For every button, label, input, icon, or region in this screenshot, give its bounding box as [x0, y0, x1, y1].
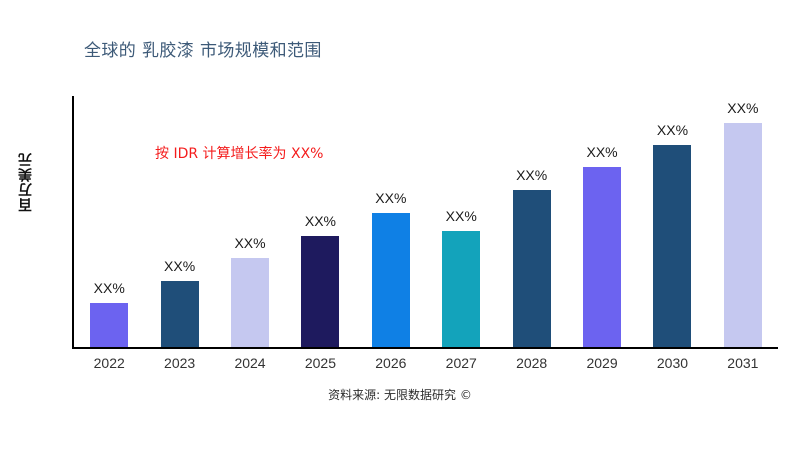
- x-axis-line: [72, 347, 778, 349]
- bar-2024[interactable]: XX%: [231, 258, 269, 347]
- x-tick-2024: 2024: [215, 355, 285, 371]
- x-tick-2029: 2029: [567, 355, 637, 371]
- bar-2025[interactable]: XX%: [301, 236, 339, 347]
- bar-2022[interactable]: XX%: [90, 303, 128, 347]
- bar-2029[interactable]: XX%: [583, 167, 621, 347]
- x-tick-2031: 2031: [708, 355, 778, 371]
- bar-value-label: XX%: [586, 144, 617, 160]
- chart-canvas: 全球的 乳胶漆 市场规模和范围 百万美元 按 IDR 计算增长率为 XX% XX…: [0, 0, 800, 450]
- plot-area: XX% XX% XX% XX% XX%: [72, 96, 778, 349]
- bar-slot: XX%: [426, 96, 496, 347]
- bar-value-label: XX%: [305, 213, 336, 229]
- x-axis-tick-labels: 2022 2023 2024 2025 2026 2027 2028 2029 …: [74, 355, 778, 371]
- bar-slot: XX%: [74, 96, 144, 347]
- bar-value-label: XX%: [446, 208, 477, 224]
- bar-series: XX% XX% XX% XX% XX%: [74, 96, 778, 347]
- bar-2026[interactable]: XX%: [372, 213, 410, 347]
- bar-value-label: XX%: [94, 280, 125, 296]
- bar-slot: XX%: [215, 96, 285, 347]
- bar-2030[interactable]: XX%: [653, 145, 691, 347]
- bar-2031[interactable]: XX%: [724, 123, 762, 347]
- page-title: 全球的 乳胶漆 市场规模和范围: [84, 36, 322, 61]
- bar-value-label: XX%: [234, 235, 265, 251]
- bar-2027[interactable]: XX%: [442, 231, 480, 347]
- x-tick-2023: 2023: [144, 355, 214, 371]
- bar-value-label: XX%: [727, 100, 758, 116]
- bar-value-label: XX%: [516, 167, 547, 183]
- x-tick-2025: 2025: [285, 355, 355, 371]
- bar-2028[interactable]: XX%: [513, 190, 551, 347]
- bar-slot: XX%: [356, 96, 426, 347]
- x-tick-2022: 2022: [74, 355, 144, 371]
- bar-slot: XX%: [496, 96, 566, 347]
- x-tick-2030: 2030: [637, 355, 707, 371]
- bar-value-label: XX%: [164, 258, 195, 274]
- x-tick-2026: 2026: [356, 355, 426, 371]
- x-tick-2028: 2028: [496, 355, 566, 371]
- source-caption: 资料来源: 无限数据研究 ©: [0, 386, 800, 403]
- bar-slot: XX%: [567, 96, 637, 347]
- bar-slot: XX%: [144, 96, 214, 347]
- y-axis-label: 百万美元: [16, 152, 34, 212]
- bar-slot: XX%: [708, 96, 778, 347]
- bar-2023[interactable]: XX%: [161, 281, 199, 347]
- bar-value-label: XX%: [657, 122, 688, 138]
- bar-slot: XX%: [285, 96, 355, 347]
- x-tick-2027: 2027: [426, 355, 496, 371]
- bar-value-label: XX%: [375, 190, 406, 206]
- bar-slot: XX%: [637, 96, 707, 347]
